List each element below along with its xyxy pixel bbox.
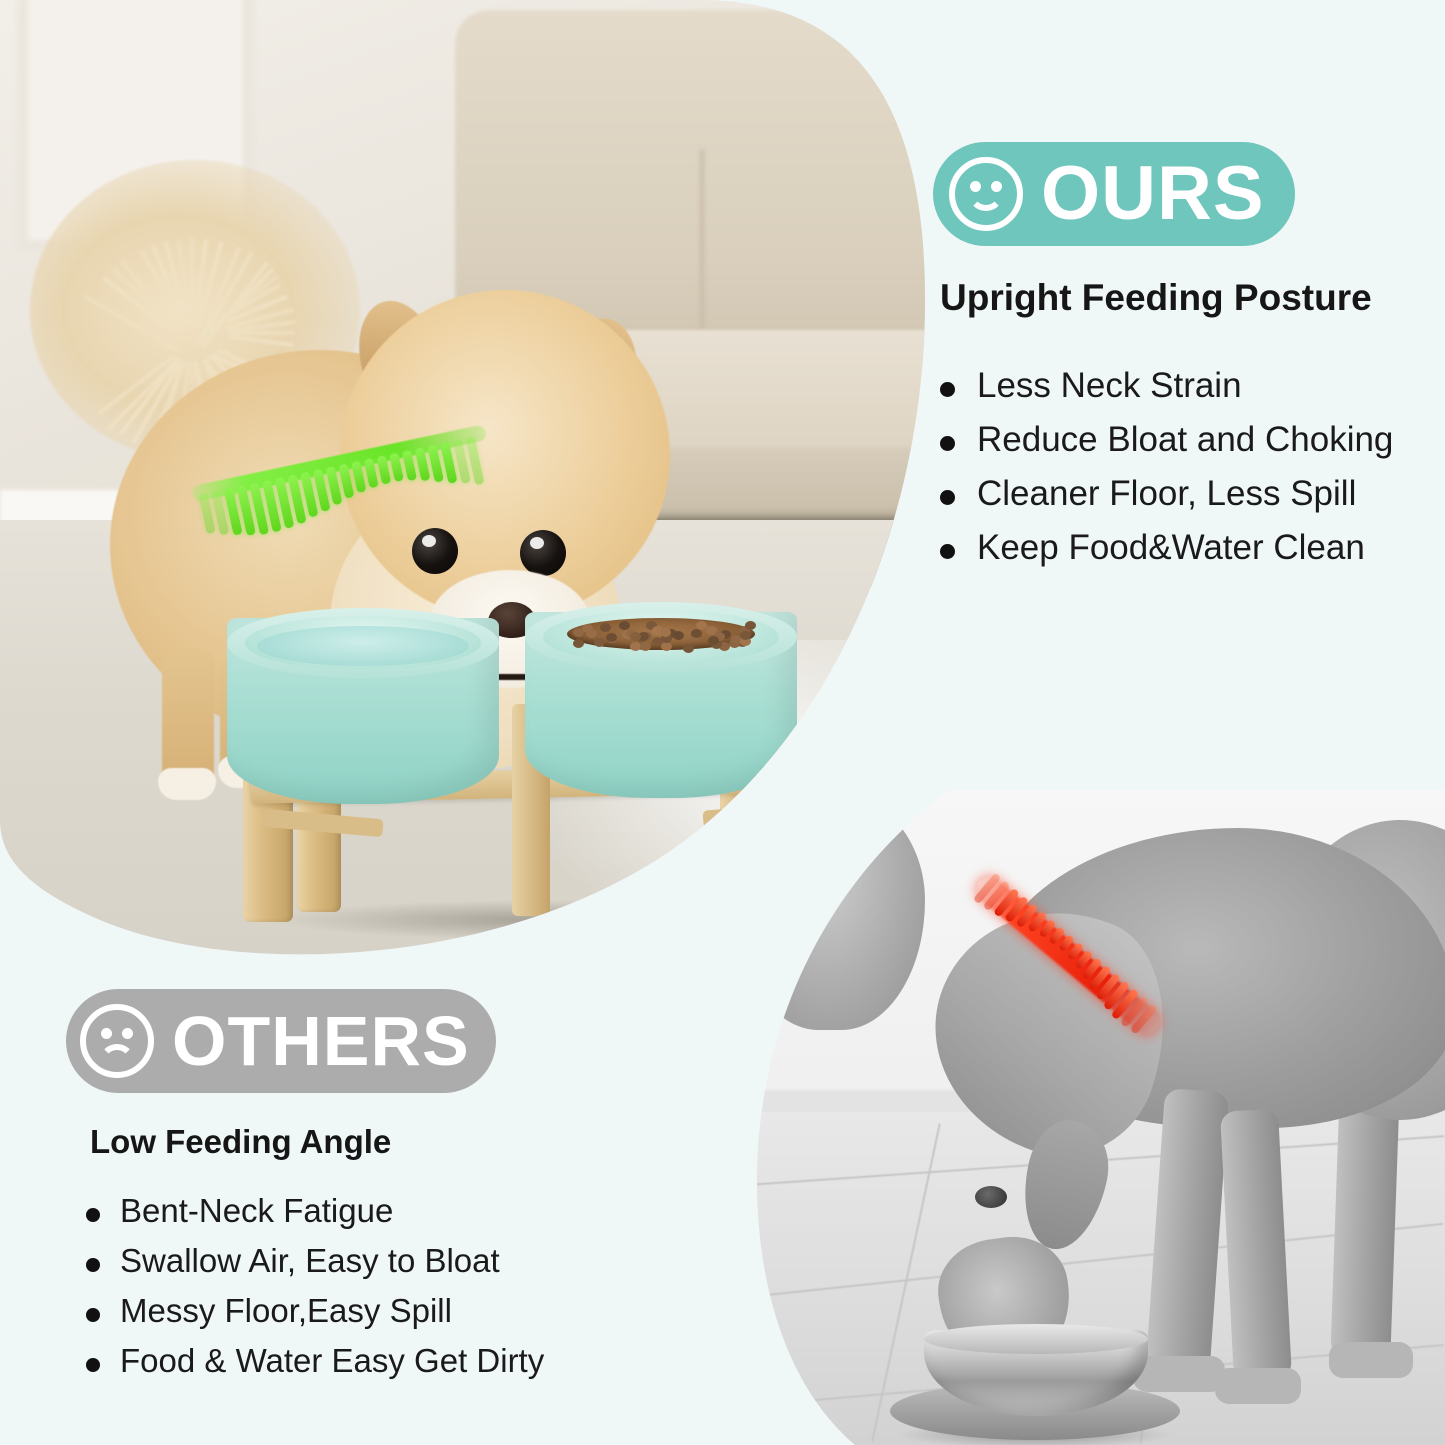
kibble-piece [691,629,702,638]
bullet-dot [86,1358,100,1372]
list-item: Reduce Bloat and Choking [940,420,1393,460]
tail-fur-strand [229,331,295,335]
list-item-label: Cleaner Floor, Less Spill [977,474,1356,514]
list-item-label: Keep Food&Water Clean [977,528,1365,568]
dog-hind-leg-right [1330,1089,1399,1359]
sofa-crease [700,150,704,330]
badge-others: OTHERS [66,989,496,1093]
list-item: Bent-Neck Fatigue [86,1192,544,1230]
dog-paw-front-right [1215,1368,1301,1404]
tail-fur-strand [190,238,194,323]
kibble-piece [600,623,611,632]
sad-eye-left [101,1028,112,1039]
scene-tiled-room [735,790,1445,1445]
sad-mouth [99,1044,135,1064]
list-item: Cleaner Floor, Less Spill [940,474,1393,514]
badge-ours-label: OURS [1041,156,1265,232]
kibble-piece [630,642,641,651]
dog-paw-left [158,768,216,800]
ours-benefit-list: Less Neck Strain Reduce Bloat and Chokin… [940,366,1393,582]
scene-living-room [0,0,925,960]
sad-eye-right [122,1028,133,1039]
list-item-label: Less Neck Strain [977,366,1242,406]
dog-eye [975,1186,1007,1208]
infographic-canvas: OURS Upright Feeding Posture Less Neck S… [0,0,1445,1445]
water-content [257,626,469,666]
bullet-dot [86,1308,100,1322]
list-item-label: Bent-Neck Fatigue [120,1192,393,1230]
dog-eye-right [520,530,566,576]
bullet-dot [940,544,955,559]
stainless-steel-floor-bowl [890,1330,1180,1440]
bowl-rim [924,1324,1148,1354]
smiley-mouth [968,189,1004,211]
photo-others-floor-bowl [735,790,1445,1445]
list-item: Keep Food&Water Clean [940,528,1393,568]
kibble-piece [708,636,719,645]
list-item-label: Reduce Bloat and Choking [977,420,1393,460]
bamboo-leg-front-right [767,736,819,926]
dog-front-leg-right [1220,1109,1292,1382]
bullet-dot [86,1208,100,1222]
badge-others-label: OTHERS [172,1006,470,1076]
bullet-dot [940,436,955,451]
kibble-piece [606,633,617,642]
tail-fur-strand [228,335,294,348]
bullet-dot [940,490,955,505]
list-item-label: Food & Water Easy Get Dirty [120,1342,544,1380]
list-item: Food & Water Easy Get Dirty [86,1342,544,1380]
smiley-face-icon [949,157,1023,231]
bullet-dot [940,382,955,397]
kibble-piece [740,631,751,640]
kibble-piece [673,631,684,640]
list-item: Less Neck Strain [940,366,1393,406]
kibble-piece [745,621,756,630]
elevated-double-bowl-set [215,600,855,930]
others-subtitle: Low Feeding Angle [90,1123,391,1161]
dog-paw-hind-right [1329,1342,1413,1378]
sad-face-icon [80,1004,154,1078]
kibble-piece [640,642,651,651]
list-item: Messy Floor,Easy Spill [86,1292,544,1330]
photo-ours-elevated-bowls [0,0,925,960]
list-item: Swallow Air, Easy to Bloat [86,1242,544,1280]
badge-ours: OURS [933,142,1295,246]
ours-subtitle: Upright Feeding Posture [940,277,1372,319]
kibble-content [567,618,755,650]
kibble-piece [683,644,694,653]
others-drawback-list: Bent-Neck Fatigue Swallow Air, Easy to B… [86,1192,544,1392]
list-item-label: Swallow Air, Easy to Bloat [120,1242,500,1280]
kibble-piece [661,642,672,651]
kibble-piece [573,628,584,637]
kibble-piece [594,638,605,647]
dog-head-lowered [735,790,925,1030]
list-item-label: Messy Floor,Easy Spill [120,1292,452,1330]
dog-front-leg-left [162,650,214,785]
bullet-dot [86,1258,100,1272]
